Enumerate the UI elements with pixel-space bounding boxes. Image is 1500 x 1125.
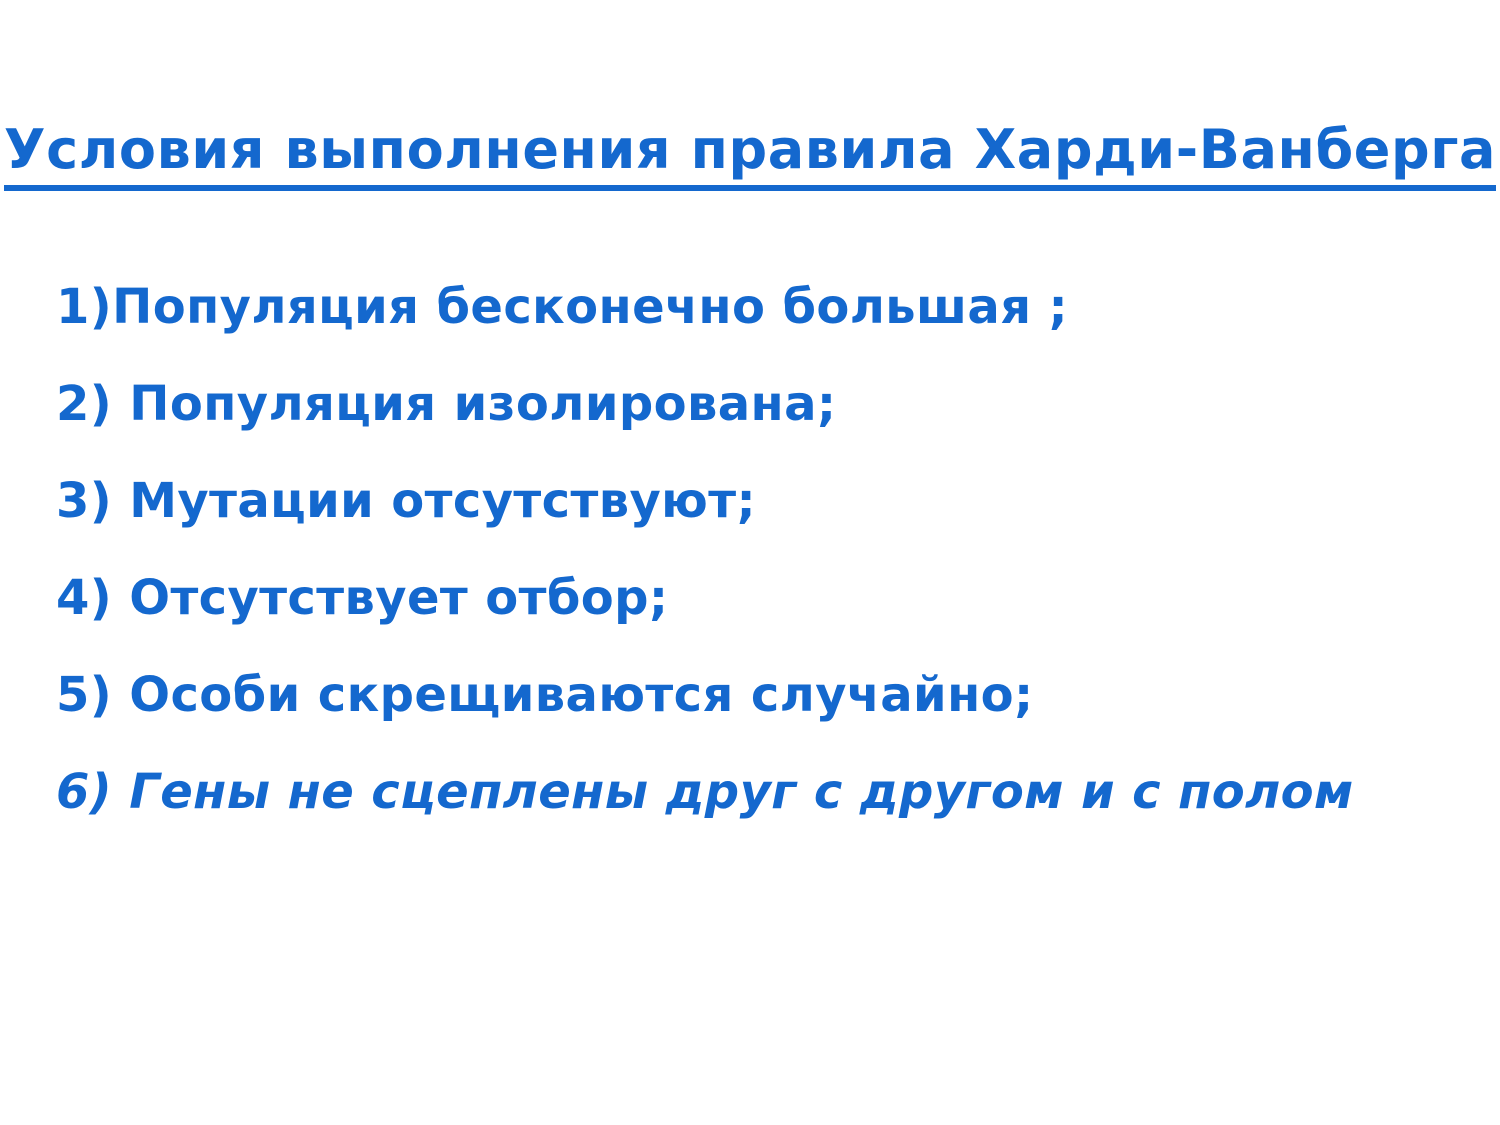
presentation-slide: Условия выполнения правила Харди-Ванберг…	[0, 0, 1500, 1125]
page-title: Условия выполнения правила Харди-Ванберг…	[4, 122, 1496, 191]
list-item: 5) Особи скрещиваются случайно;	[56, 671, 1456, 768]
conditions-list: 1)Популяция бесконечно большая ; 2) Попу…	[56, 283, 1456, 865]
list-item: 1)Популяция бесконечно большая ;	[56, 283, 1456, 380]
list-item: 4) Отсутствует отбор;	[56, 574, 1456, 671]
list-item: 6) Гены не сцеплены друг с другом и с по…	[56, 768, 1456, 865]
list-item: 2) Популяция изолирована;	[56, 380, 1456, 477]
list-item: 3) Мутации отсутствуют;	[56, 477, 1456, 574]
title-block: Условия выполнения правила Харди-Ванберг…	[0, 86, 1500, 227]
